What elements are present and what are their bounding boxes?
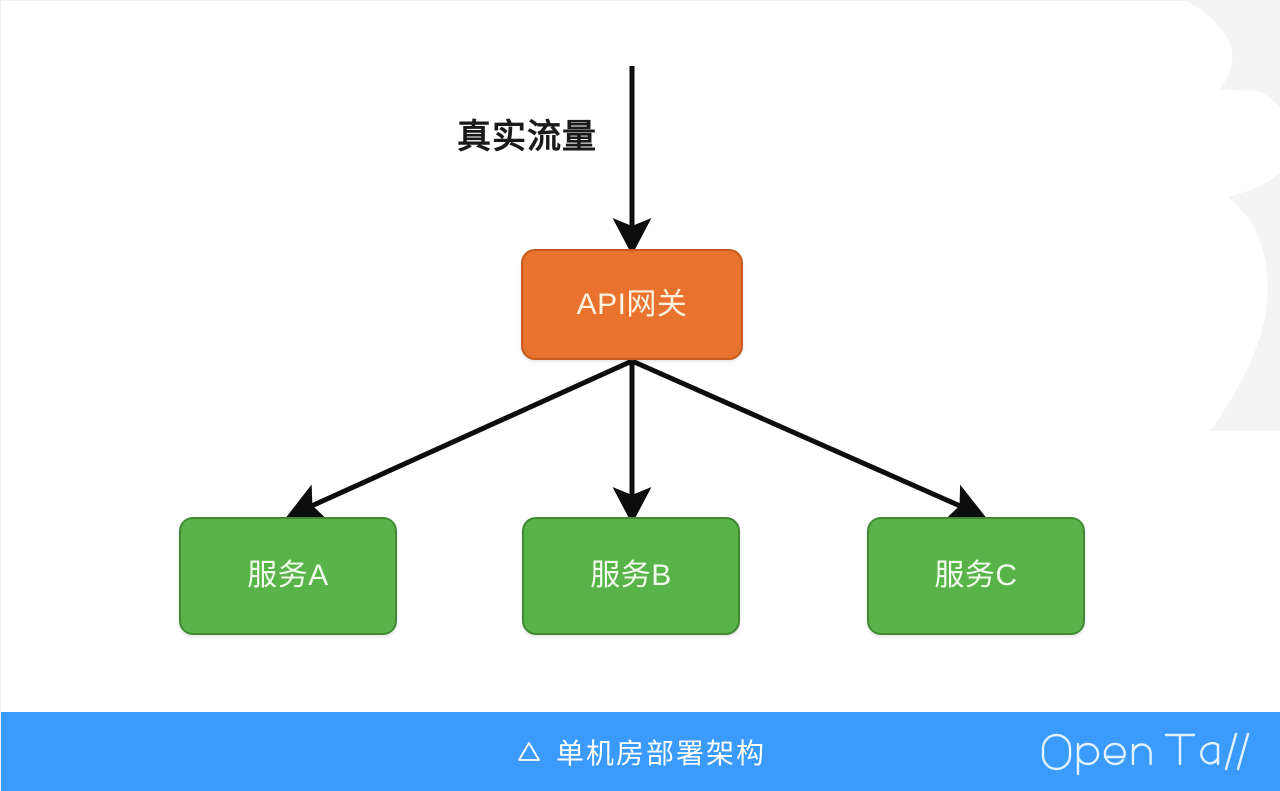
footer-caption-text: 单机房部署架构 — [556, 732, 766, 772]
traffic-label: 真实流量 — [457, 109, 597, 158]
footer-bar: 单机房部署架构 — [1, 712, 1280, 791]
node-api-gateway-label: API网关 — [577, 290, 688, 320]
node-service-b-label: 服务B — [590, 561, 672, 591]
node-service-a-label: 服务A — [247, 561, 329, 591]
node-service-c-label: 服务C — [934, 561, 1017, 591]
triangle-outline-icon — [516, 739, 542, 765]
node-service-c[interactable]: 服务C — [867, 517, 1085, 635]
edge-gateway-to-service-a — [296, 361, 632, 513]
edge-gateway-to-service-c — [632, 361, 976, 513]
node-service-a[interactable]: 服务A — [179, 517, 397, 635]
footer-caption: 单机房部署架构 — [516, 732, 766, 772]
node-api-gateway[interactable]: API网关 — [521, 249, 743, 360]
node-service-b[interactable]: 服务B — [522, 517, 740, 635]
brand-logo — [1040, 726, 1255, 778]
slide-canvas: 真实流量 API网关 服务A 服务B 服务C 单机房部署架构 — [0, 0, 1280, 791]
